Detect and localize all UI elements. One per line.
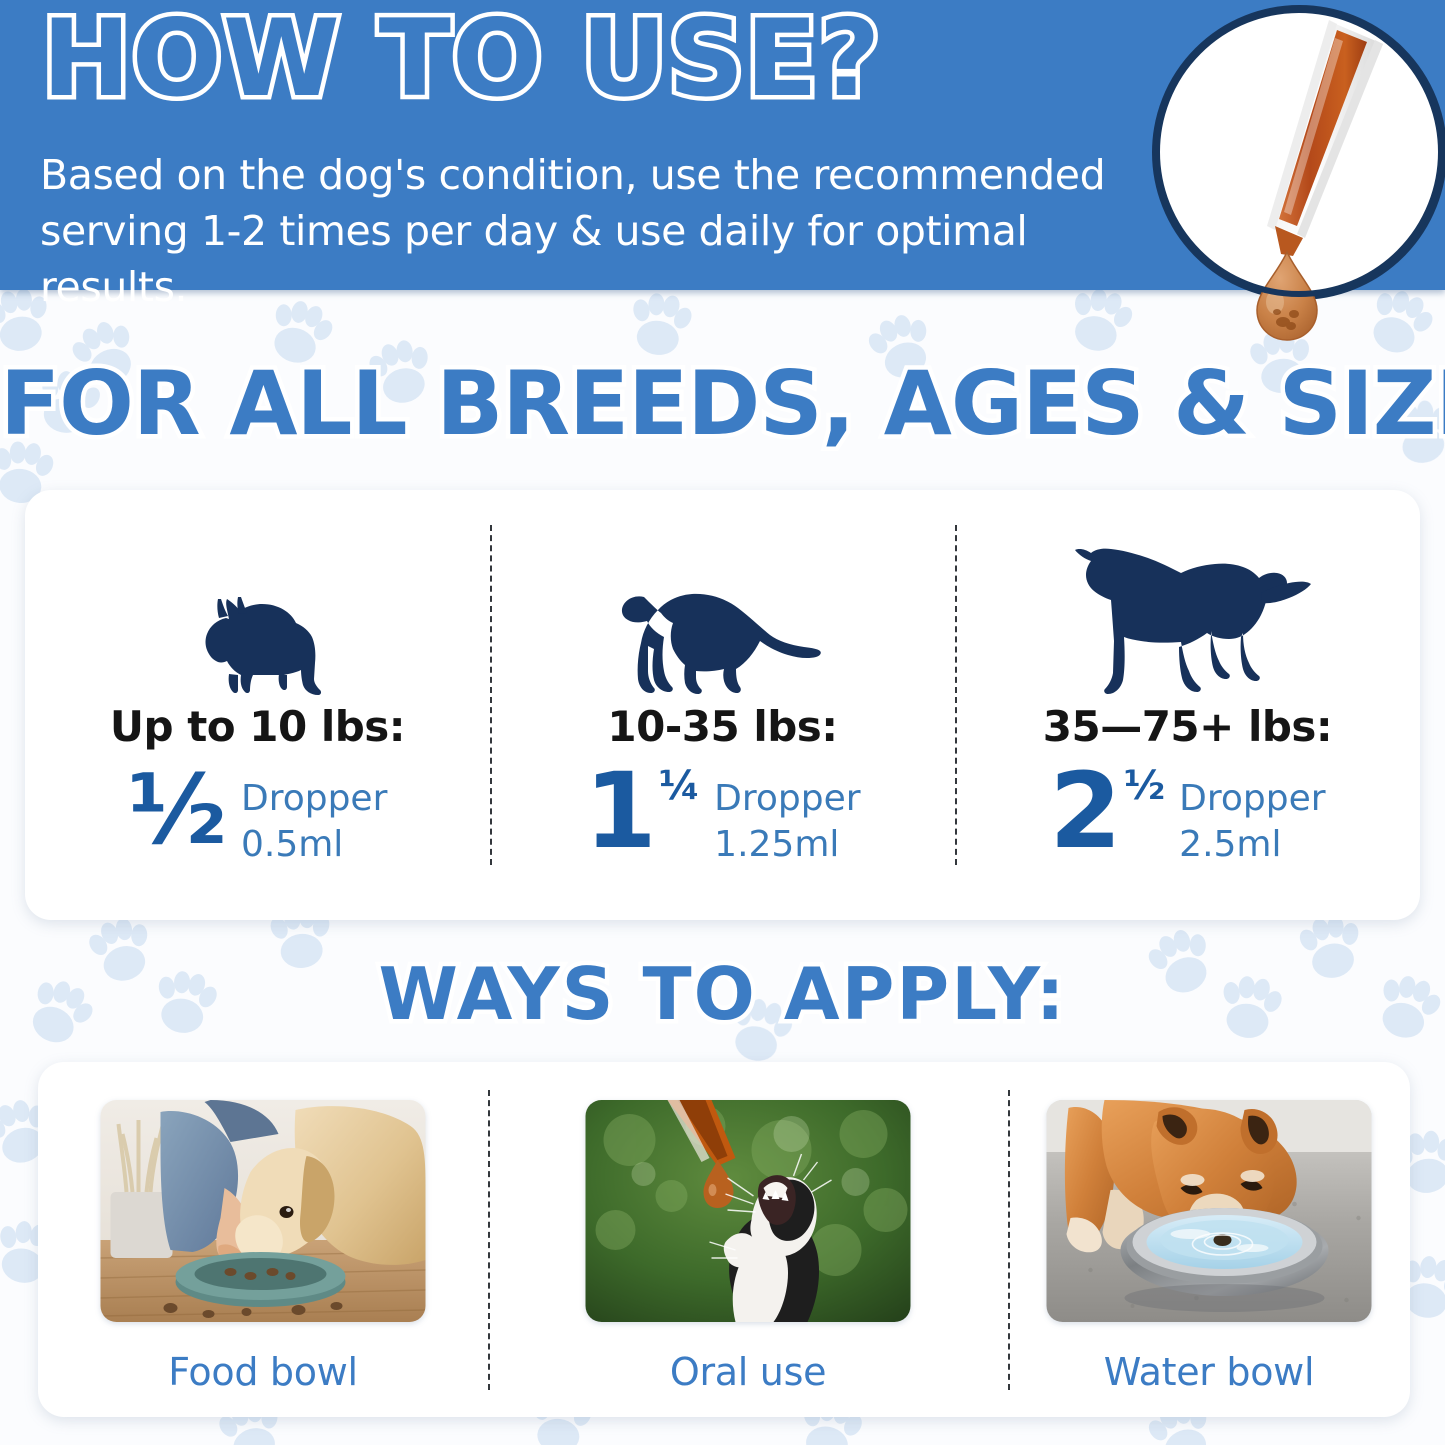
dose-unit: Dropper — [1179, 778, 1325, 819]
dose-amount: 1 ¼ Dropper 1.25ml — [490, 762, 955, 868]
dose-description: Dropper 0.5ml — [241, 776, 387, 868]
dose-weight-label: 35—75+ lbs: — [955, 702, 1420, 751]
header-subtitle: Based on the dog's condition, use the re… — [40, 148, 1120, 315]
apply-column-water-bowl: Water bowl — [1008, 1062, 1410, 1417]
dose-description: Dropper 2.5ml — [1179, 776, 1325, 868]
apply-method-label: Food bowl — [38, 1350, 488, 1394]
golden-retriever-eating-from-bowl-photo — [101, 1100, 426, 1322]
apply-divider-1 — [488, 1090, 490, 1390]
dose-weight-label: Up to 10 lbs: — [25, 702, 490, 751]
dose-weight-label: 10-35 lbs: — [490, 702, 955, 751]
dosage-column-large: 35—75+ lbs: 2 ½ Dropper 2.5ml — [955, 490, 1420, 920]
dose-whole-number: 1 — [584, 762, 656, 861]
apply-method-label: Oral use — [488, 1350, 1008, 1394]
dose-amount: ½ Dropper 0.5ml — [25, 762, 490, 868]
dose-volume: 1.25ml — [714, 824, 839, 865]
dose-fraction-value: ½ — [1124, 766, 1165, 806]
page-title: HOW TO USE? — [42, 6, 881, 112]
dose-volume: 0.5ml — [241, 824, 343, 865]
dog-receiving-dropper-drop-photo — [586, 1100, 911, 1322]
shiba-inu-drinking-water-photo — [1047, 1100, 1372, 1322]
dose-fraction: 2 ½ — [1049, 762, 1165, 861]
small-dog-silhouette-icon — [25, 505, 490, 705]
dropper-drip-icon — [1151, 4, 1445, 344]
dose-amount: 2 ½ Dropper 2.5ml — [955, 762, 1420, 868]
dose-fraction: 1 ¼ — [584, 762, 700, 861]
dose-fraction-value: ½ — [128, 762, 227, 858]
apply-divider-2 — [1008, 1090, 1010, 1390]
dosage-divider-2 — [955, 525, 957, 865]
dose-unit: Dropper — [241, 778, 387, 819]
dose-unit: Dropper — [714, 778, 860, 819]
dosage-column-small: Up to 10 lbs: ½ Dropper 0.5ml — [25, 490, 490, 920]
dose-volume: 2.5ml — [1179, 824, 1281, 865]
dose-description: Dropper 1.25ml — [714, 776, 860, 868]
large-dog-silhouette-icon — [955, 505, 1420, 705]
breeds-section-heading: FOR ALL BREEDS, AGES & SIZES — [0, 352, 1445, 455]
dosage-divider-1 — [490, 525, 492, 865]
apply-column-oral-use: Oral use — [488, 1062, 1008, 1417]
dose-whole-number: 2 — [1049, 762, 1121, 861]
header-subtitle-line1: Based on the dog's condition, use the re… — [40, 151, 1105, 199]
dose-fraction: ½ — [128, 762, 227, 858]
medium-dog-silhouette-icon — [490, 505, 955, 705]
apply-section-heading: WAYS TO APPLY: — [0, 952, 1445, 1036]
header-subtitle-line2: serving 1-2 times per day & use daily fo… — [40, 207, 1027, 311]
apply-column-food-bowl: Food bowl — [38, 1062, 488, 1417]
dropper-badge — [1152, 5, 1445, 300]
apply-method-label: Water bowl — [1008, 1350, 1410, 1394]
dosage-column-medium: 10-35 lbs: 1 ¼ Dropper 1.25ml — [490, 490, 955, 920]
dose-fraction-value: ¼ — [659, 766, 700, 806]
